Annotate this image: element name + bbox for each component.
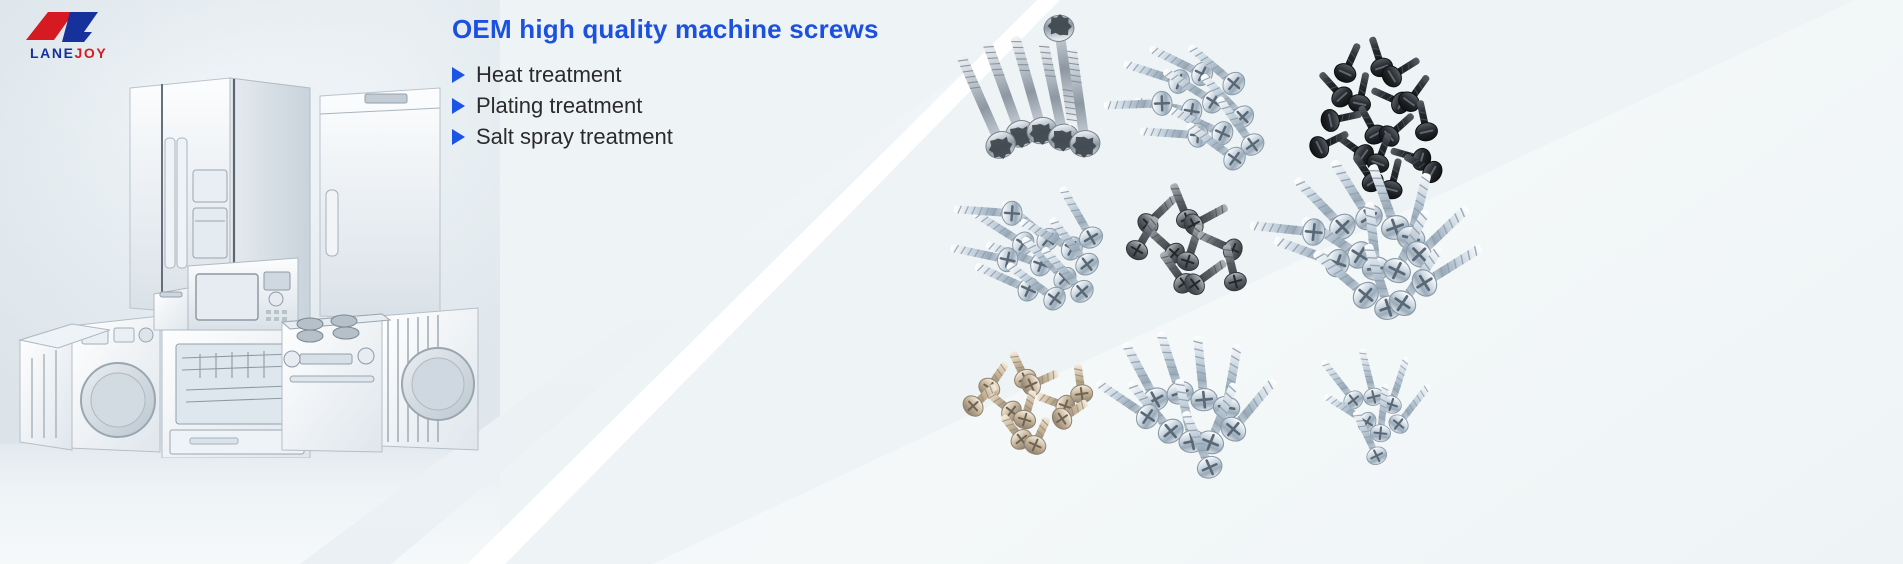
home-appliances-illustration bbox=[10, 58, 490, 458]
feature-label: Plating treatment bbox=[476, 91, 642, 121]
logo-word-secondary: JOY bbox=[75, 45, 108, 61]
microwave bbox=[188, 258, 298, 330]
promo-banner: OEM high quality machine screws Heat tre… bbox=[0, 0, 1903, 564]
screw-cluster-phillips-pan-head-screws bbox=[1104, 37, 1269, 174]
screw-cluster-small-zinc-screws bbox=[1315, 347, 1437, 468]
lanejoy-logo[interactable]: LANEJOY bbox=[18, 8, 128, 64]
screw-cluster-nickel-short-screws bbox=[959, 347, 1094, 458]
freezer bbox=[320, 88, 440, 320]
logo-mark-icon bbox=[18, 8, 126, 48]
screw-cluster-zinc-self-tapping-screws bbox=[948, 181, 1106, 314]
screw-cluster-long-zinc-screws bbox=[1090, 328, 1284, 482]
machine-screws-photo bbox=[930, 0, 1903, 564]
triangle-right-icon bbox=[452, 98, 465, 114]
list-item: Salt spray treatment bbox=[452, 122, 972, 152]
gas-stove bbox=[282, 314, 390, 452]
feature-list: Heat treatment Plating treatment Salt sp… bbox=[452, 60, 972, 152]
logo-word-primary: LANE bbox=[30, 45, 75, 61]
list-item: Heat treatment bbox=[452, 60, 972, 90]
triangle-right-icon bbox=[452, 67, 465, 83]
toaster bbox=[154, 288, 188, 330]
list-item: Plating treatment bbox=[452, 91, 972, 121]
promo-text-block: OEM high quality machine screws Heat tre… bbox=[452, 12, 972, 153]
page-title: OEM high quality machine screws bbox=[452, 12, 972, 46]
screw-cluster-dark-hex-wafer-screws bbox=[1123, 180, 1248, 299]
feature-label: Salt spray treatment bbox=[476, 122, 673, 152]
triangle-right-icon bbox=[452, 129, 465, 145]
logo-wordmark: LANEJOY bbox=[30, 45, 107, 61]
feature-label: Heat treatment bbox=[476, 60, 622, 90]
clothes-dryer bbox=[380, 308, 478, 450]
